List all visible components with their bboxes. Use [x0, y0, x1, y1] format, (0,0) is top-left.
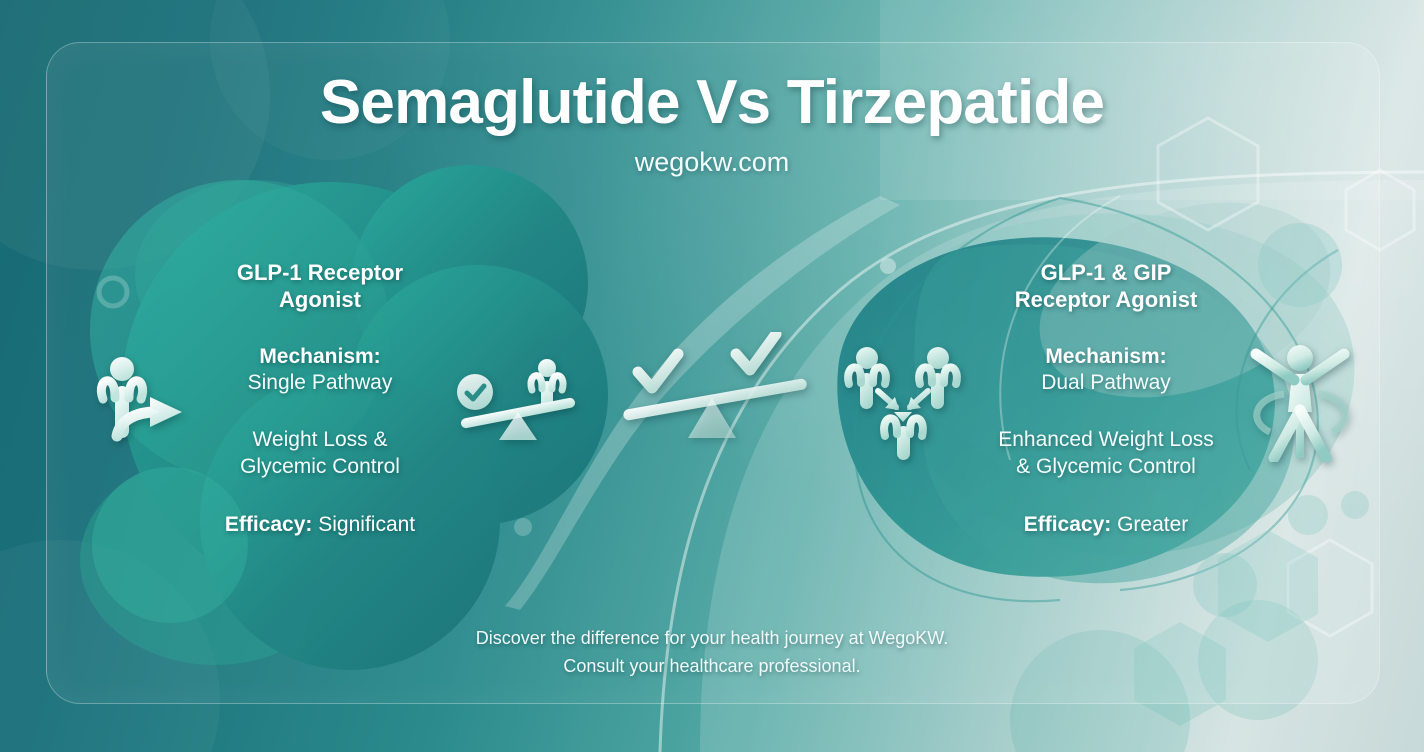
panel-right-heading: GLP-1 & GIP Receptor Agonist	[926, 260, 1286, 314]
three-people-converging-arrows-icon	[840, 344, 968, 462]
footer-line1: Discover the difference for your health …	[476, 628, 949, 648]
panel-right-heading-line2: Receptor Agonist	[1015, 287, 1198, 312]
panel-left-efficacy: Efficacy: Significant	[140, 513, 500, 537]
panel-left-heading-line1: GLP-1 Receptor	[237, 260, 403, 285]
panel-right-benefit-line2: & Glycemic Control	[1016, 455, 1196, 478]
celebrating-person-icon	[1244, 340, 1356, 462]
person-with-arrow-icon	[90, 352, 196, 448]
footer-disclaimer: Discover the difference for your health …	[0, 625, 1424, 681]
panel-left-heading-line2: Agonist	[279, 287, 361, 312]
page-title: Semaglutide Vs Tirzepatide	[0, 70, 1424, 135]
panel-right-heading-line1: GLP-1 & GIP	[1041, 260, 1172, 285]
panel-left-benefit-line1: Weight Loss &	[252, 428, 387, 451]
balance-scale-checkmarks-icon	[620, 332, 810, 448]
panel-right-benefit-line1: Enhanced Weight Loss	[998, 428, 1214, 451]
panel-right-efficacy: Efficacy: Greater	[926, 513, 1286, 537]
panel-right-benefits: Enhanced Weight Loss & Glycemic Control	[926, 426, 1286, 481]
panel-left-efficacy-label: Efficacy:	[225, 513, 313, 536]
panel-right-mechanism: Mechanism: Dual Pathway	[926, 344, 1286, 397]
panel-left-benefit-line2: Glycemic Control	[240, 455, 400, 478]
footer-line2: Consult your healthcare professional.	[563, 656, 860, 676]
panel-right-efficacy-value: Greater	[1117, 513, 1188, 536]
header: Semaglutide Vs Tirzepatide wegokw.com	[0, 70, 1424, 178]
panel-left-heading: GLP-1 Receptor Agonist	[140, 260, 500, 314]
panel-left-efficacy-value: Significant	[318, 513, 415, 536]
balance-scale-check-person-icon	[452, 352, 582, 448]
site-subtitle: wegokw.com	[0, 147, 1424, 178]
panel-tirzepatide: GLP-1 & GIP Receptor Agonist Mechanism: …	[926, 260, 1286, 537]
infographic-canvas: Semaglutide Vs Tirzepatide wegokw.com GL…	[0, 0, 1424, 752]
panel-right-mechanism-label: Mechanism:	[926, 344, 1286, 370]
panel-right-efficacy-label: Efficacy:	[1024, 513, 1112, 536]
panel-right-mechanism-value: Dual Pathway	[926, 370, 1286, 396]
